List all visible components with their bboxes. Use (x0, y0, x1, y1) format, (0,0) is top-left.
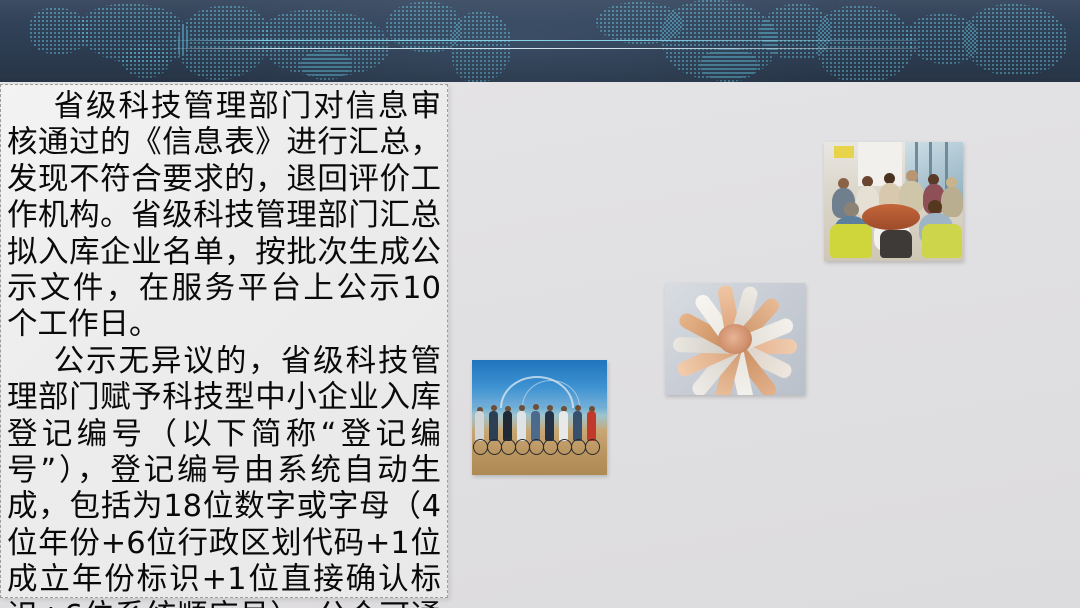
bicycle-wheel (585, 439, 600, 455)
bicycle-wheel (487, 439, 502, 455)
photo-joined-hands (665, 283, 805, 395)
meeting-yellow-panel (834, 146, 854, 158)
meeting-round-table (862, 204, 920, 230)
body-paragraph: 省级科技管理部门对信息审核通过的《信息表》进行汇总，发现不符合要求的，退回评价工… (7, 89, 441, 608)
meeting-person-body (941, 187, 963, 217)
cyclist-body (489, 411, 498, 441)
body-text-panel: 省级科技管理部门对信息审核通过的《信息表》进行汇总，发现不符合要求的，退回评价工… (0, 84, 448, 598)
bicycle-wheel (473, 439, 488, 455)
slide-canvas: 省级科技管理部门对信息审核通过的《信息表》进行汇总，发现不符合要求的，退回评价工… (0, 0, 1080, 608)
photo-cyclists-group (472, 360, 607, 475)
hands-center-stack (718, 324, 752, 354)
bicycle-wheel (543, 439, 558, 455)
cyclist-body (573, 411, 582, 441)
bicycle-wheel (571, 439, 586, 455)
slide-header-banner (0, 0, 1080, 82)
bicycle-wheel (557, 439, 572, 455)
meeting-person-head (844, 202, 859, 217)
meeting-chair (880, 230, 912, 258)
cyclist-head (533, 404, 539, 410)
cyclist-body (559, 411, 568, 441)
meeting-person-head (928, 200, 942, 214)
meeting-chair (830, 224, 872, 258)
cyclist-body (503, 411, 512, 441)
bicycle-wheel (529, 439, 544, 455)
cyclist-body (517, 411, 526, 441)
cyclist-body (531, 411, 540, 441)
bicycle-wheel (501, 439, 516, 455)
photo-group-meeting (824, 142, 963, 261)
bicycle-wheel (515, 439, 530, 455)
cyclist-body (545, 411, 554, 441)
header-gradient-overlay (0, 0, 1080, 82)
cyclist-body (587, 411, 596, 441)
meeting-chair (922, 224, 962, 258)
cyclist-body (475, 411, 484, 441)
